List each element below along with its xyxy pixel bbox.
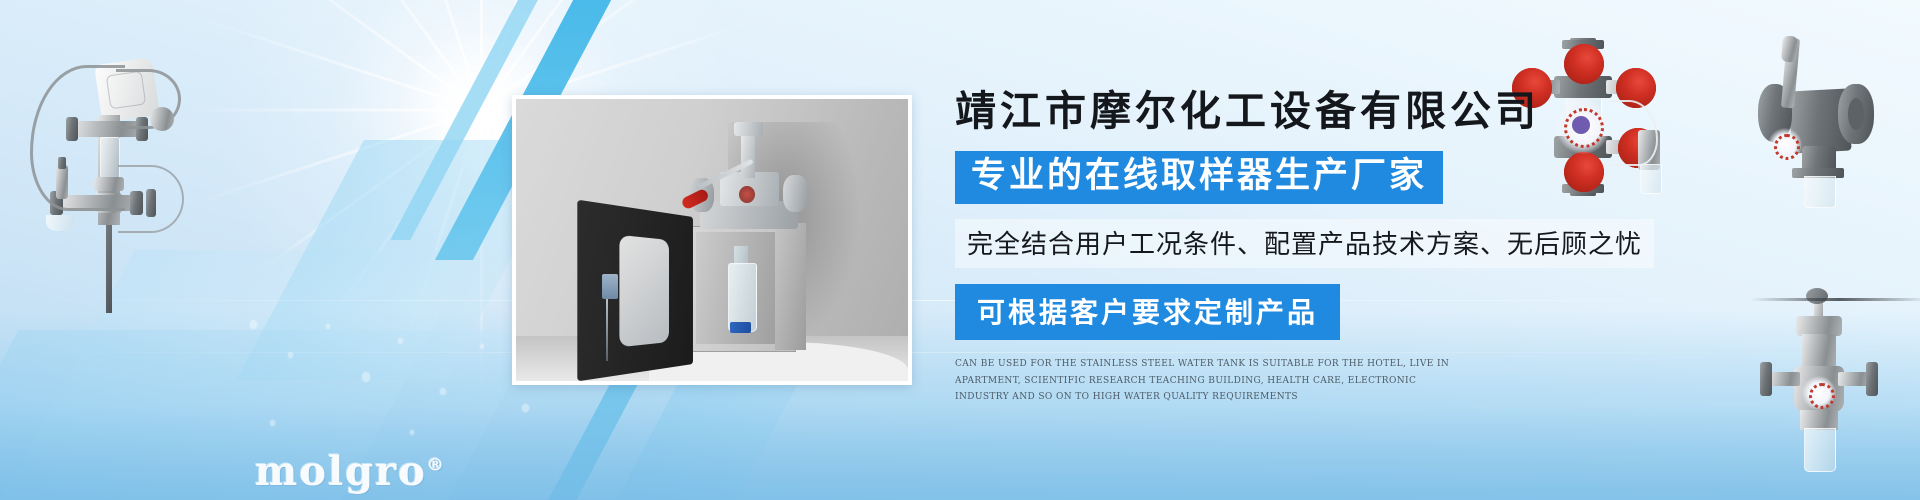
equipment-vertical-lever-valve — [1756, 280, 1916, 480]
equipment-flanged-lever-valve — [1706, 28, 1906, 218]
equipment-left-pipeline-sampler — [10, 25, 210, 315]
brand-watermark: molgro® — [255, 448, 446, 495]
headline-secondary: 可根据客户要求定制产品 — [955, 284, 1340, 340]
watermark-registered-mark: ® — [427, 456, 446, 476]
product-photo-sampling-cabinet — [512, 95, 912, 385]
company-name: 靖江市摩尔化工设备有限公司 — [955, 88, 1735, 135]
english-caption: CAN BE USED FOR THE STAINLESS STEEL WATE… — [955, 356, 1455, 406]
headline-primary: 专业的在线取样器生产厂家 — [955, 151, 1443, 204]
promo-banner: molgro® — [0, 0, 1920, 500]
subline-description: 完全结合用户工况条件、配置产品技术方案、无后顾之忧 — [955, 219, 1654, 268]
watermark-text: molgro — [255, 448, 427, 495]
banner-text-block: 靖江市摩尔化工设备有限公司 专业的在线取样器生产厂家 完全结合用户工况条件、配置… — [955, 88, 1735, 406]
